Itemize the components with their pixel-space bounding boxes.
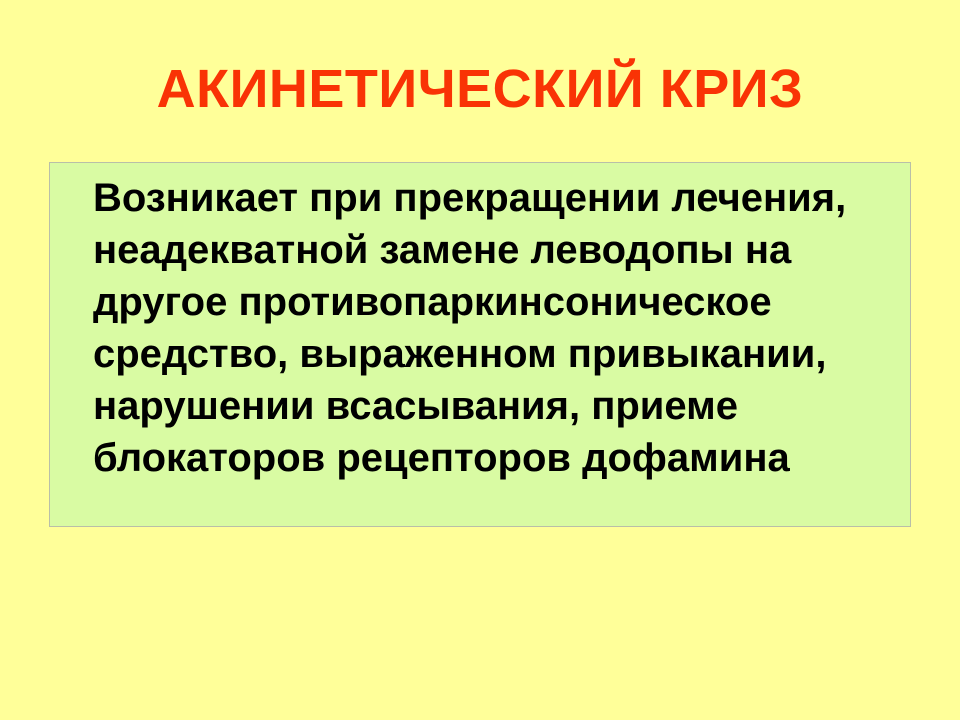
slide: АКИНЕТИЧЕСКИЙ КРИЗ Возникает при прекращ… [0, 0, 960, 720]
content-box: Возникает при прекращении лечения, неаде… [49, 162, 911, 527]
body-text-block: Возникает при прекращении лечения, неаде… [93, 172, 893, 484]
body-line: средство, выраженном привыкании, [93, 328, 893, 380]
page-title: АКИНЕТИЧЕСКИЙ КРИЗ [0, 58, 960, 120]
body-line: нарушении всасывания, приеме [93, 380, 893, 432]
body-line: блокаторов рецепторов дофамина [93, 432, 893, 484]
body-line: неадекватной замене леводопы на [93, 224, 893, 276]
body-line: Возникает при прекращении лечения, [93, 172, 893, 224]
body-line: другое противопаркинсоническое [93, 276, 893, 328]
